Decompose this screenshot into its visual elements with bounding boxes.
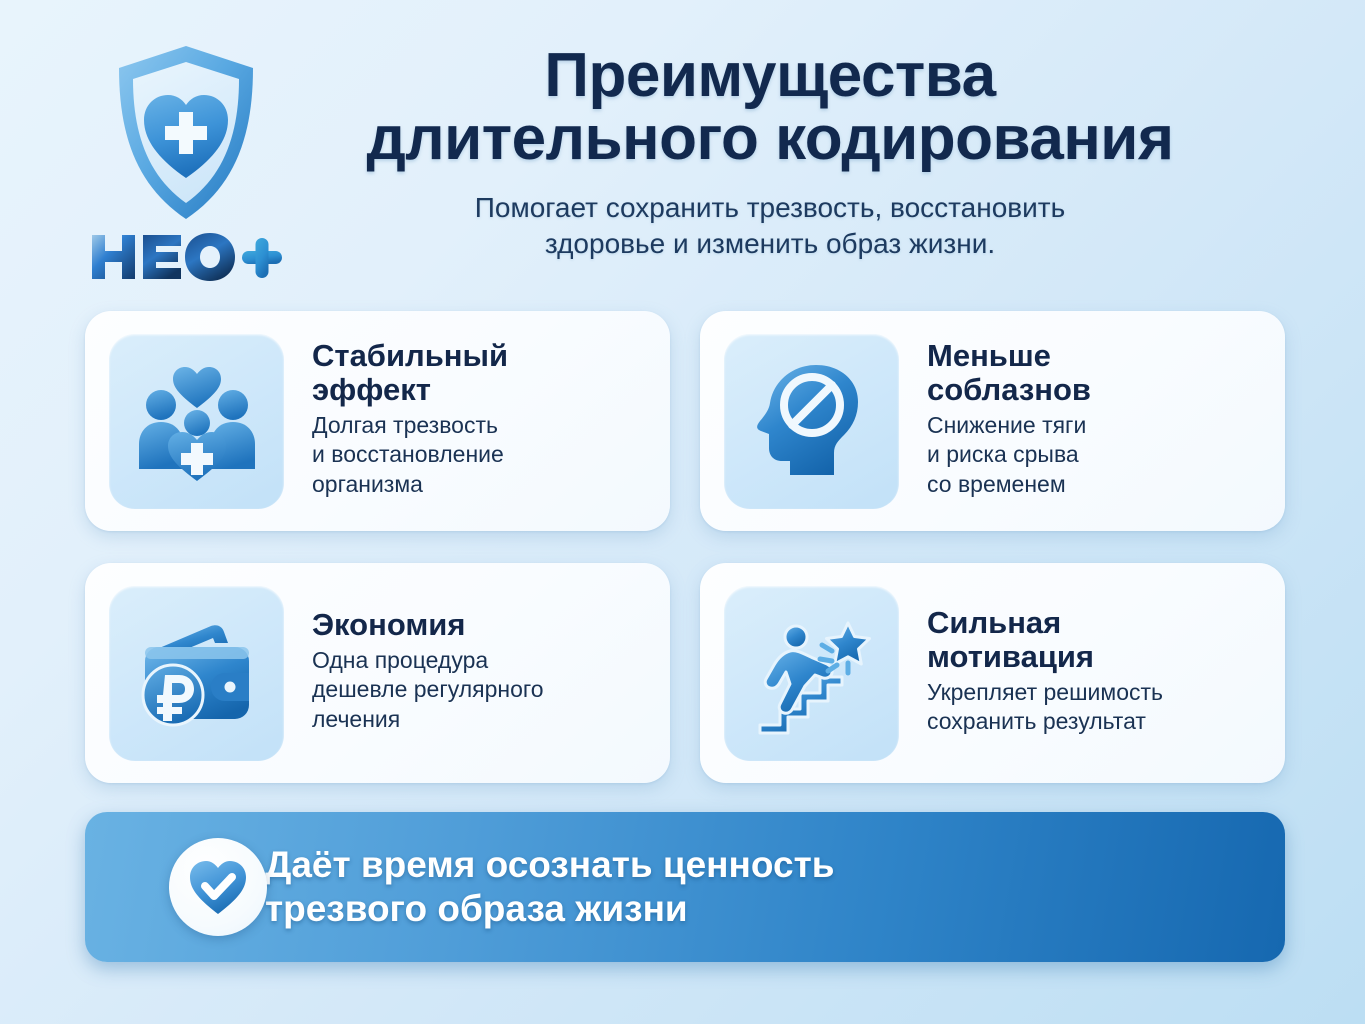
footer-banner: Даёт время осознать ценность трезвого об… <box>85 812 1285 962</box>
title-block: Преимущества длительного кодирования Пом… <box>270 44 1270 262</box>
heart-check-icon <box>187 856 249 918</box>
card-title: Сильная мотивация <box>927 606 1263 674</box>
card-description: Снижение тяги и риска срыва со временем <box>927 411 1263 499</box>
card-text: Меньше соблазнов Снижение тяги и риска с… <box>899 339 1263 503</box>
shield-heart-plus-icon <box>111 40 261 225</box>
stairs-star-motivation-icon <box>742 603 882 743</box>
card-title: Экономия <box>312 608 648 642</box>
card-text: Сильная мотивация Укрепляет решимость со… <box>899 606 1263 741</box>
icon-tile <box>109 334 284 509</box>
page-subtitle-line-1: Помогает сохранить трезвость, восстанови… <box>270 190 1270 226</box>
benefit-card: Сильная мотивация Укрепляет решимость со… <box>700 563 1285 783</box>
page-subtitle: Помогает сохранить трезвость, восстанови… <box>270 190 1270 262</box>
header: Преимущества длительного кодирования Пом… <box>0 0 1365 300</box>
card-description: Долгая трезвость и восстановление органи… <box>312 411 648 499</box>
head-prohibition-icon <box>742 351 882 491</box>
card-description: Укрепляет решимость сохранить результат <box>927 678 1263 736</box>
card-text: Стабильный эффект Долгая трезвость и вос… <box>284 339 648 503</box>
benefit-card-grid: Стабильный эффект Долгая трезвость и вос… <box>85 311 1285 783</box>
card-title: Стабильный эффект <box>312 339 648 407</box>
benefit-card: Меньше соблазнов Снижение тяги и риска с… <box>700 311 1285 531</box>
benefit-card: Стабильный эффект Долгая трезвость и вос… <box>85 311 670 531</box>
page-title-line-1: Преимущества <box>270 44 1270 107</box>
banner-badge <box>169 838 267 936</box>
wallet-ruble-icon <box>127 603 267 743</box>
banner-text: Даёт время осознать ценность трезвого об… <box>265 843 834 932</box>
page-subtitle-line-2: здоровье и изменить образ жизни. <box>270 226 1270 262</box>
icon-tile <box>724 334 899 509</box>
card-title: Меньше соблазнов <box>927 339 1263 407</box>
icon-tile <box>109 586 284 761</box>
brand-wordmark <box>86 229 286 285</box>
page-title-line-2: длительного кодирования <box>270 107 1270 170</box>
page-title: Преимущества длительного кодирования <box>270 44 1270 170</box>
infographic-poster: Преимущества длительного кодирования Пом… <box>0 0 1365 1024</box>
icon-tile <box>724 586 899 761</box>
benefit-card: Экономия Одна процедура дешевле регулярн… <box>85 563 670 783</box>
brand-block <box>78 40 293 285</box>
card-description: Одна процедура дешевле регулярного лечен… <box>312 646 648 734</box>
family-heart-plus-icon <box>127 351 267 491</box>
card-text: Экономия Одна процедура дешевле регулярн… <box>284 608 648 738</box>
